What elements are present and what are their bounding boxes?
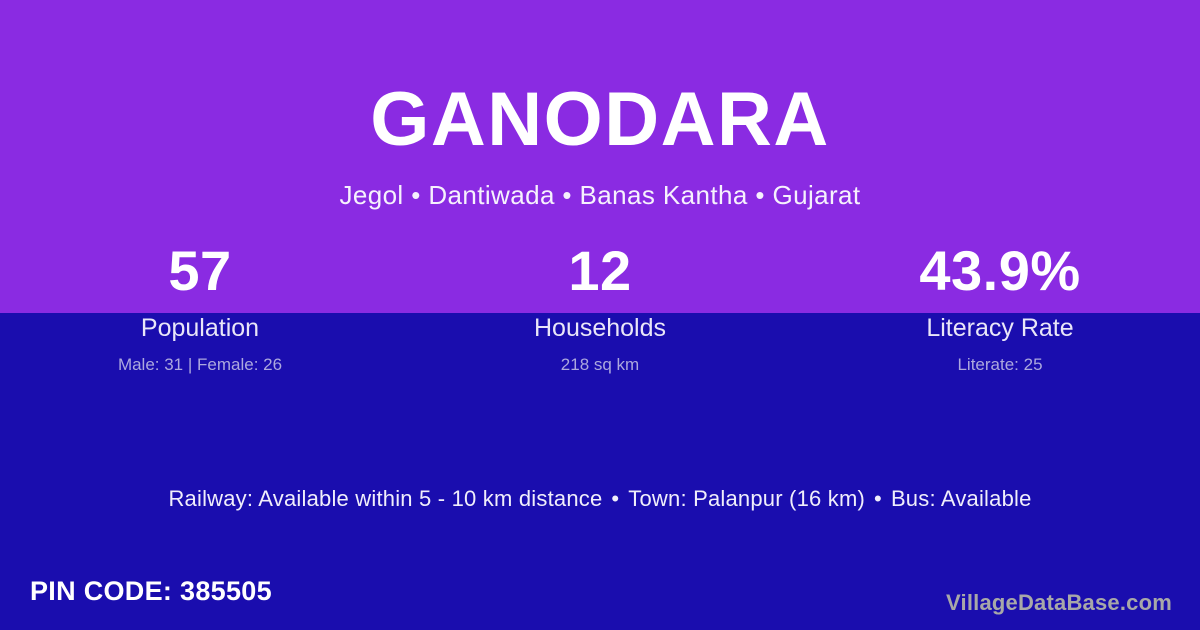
stat-population-label: Population — [0, 313, 400, 343]
infra-town: Town: Palanpur (16 km) — [628, 486, 865, 511]
stats-row: 57 Population Male: 31 | Female: 26 12 H… — [0, 243, 1200, 375]
breadcrumb: Jegol • Dantiwada • Banas Kantha • Gujar… — [0, 180, 1200, 211]
stat-literacy-sub: Literate: 25 — [800, 355, 1200, 375]
infra-bus: Bus: Available — [891, 486, 1032, 511]
stat-literacy-value: 43.9% — [800, 243, 1200, 305]
stat-population-value: 57 — [0, 243, 400, 305]
page-title: GANODARA — [0, 82, 1200, 158]
stat-households-value: 12 — [400, 243, 800, 305]
infrastructure-line: Railway: Available within 5 - 10 km dist… — [0, 486, 1200, 512]
stat-literacy: 43.9% Literacy Rate Literate: 25 — [800, 243, 1200, 375]
stat-households-label: Households — [400, 313, 800, 343]
village-info-card: GANODARA Jegol • Dantiwada • Banas Kanth… — [0, 0, 1200, 630]
stat-households: 12 Households 218 sq km — [400, 243, 800, 375]
brand-watermark: VillageDataBase.com — [946, 590, 1172, 616]
infra-railway: Railway: Available within 5 - 10 km dist… — [168, 486, 602, 511]
stat-literacy-label: Literacy Rate — [800, 313, 1200, 343]
card-header: GANODARA Jegol • Dantiwada • Banas Kanth… — [0, 0, 1200, 211]
stat-population: 57 Population Male: 31 | Female: 26 — [0, 243, 400, 375]
stat-households-sub: 218 sq km — [400, 355, 800, 375]
card-footer: PIN CODE: 385505 VillageDataBase.com — [0, 570, 1200, 630]
stat-population-sub: Male: 31 | Female: 26 — [0, 355, 400, 375]
infra-separator-1: • — [602, 486, 628, 512]
infra-separator-2: • — [865, 486, 891, 512]
pin-code: PIN CODE: 385505 — [30, 576, 272, 607]
